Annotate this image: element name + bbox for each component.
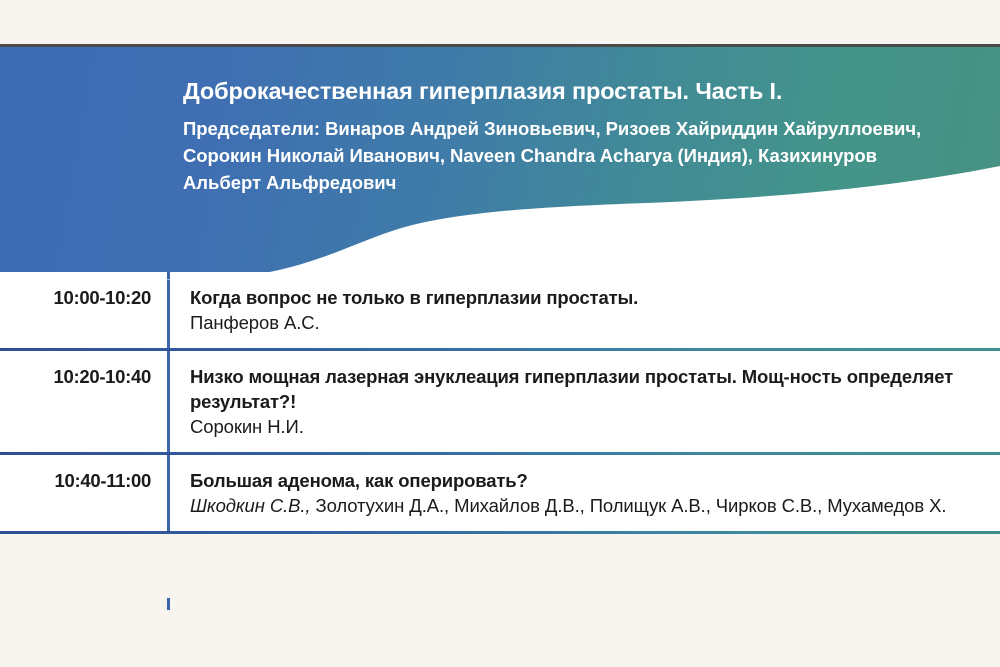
table-row: 10:00-10:20 Когда вопрос не только в гип… (0, 272, 1000, 348)
talk-authors: Шкодкин С.В., Золотухин Д.А., Михайлов Д… (190, 494, 978, 518)
talk-title: Когда вопрос не только в гиперплазии про… (190, 286, 978, 310)
talk-title: Низко мощная лазерная энуклеация гиперпл… (190, 365, 978, 413)
row-divider (0, 531, 1000, 534)
talk-cell: Низко мощная лазерная энуклеация гиперпл… (167, 351, 1000, 452)
top-margin-strip (0, 0, 1000, 44)
bottom-margin-strip (0, 598, 1000, 667)
talk-presenter: Шкодкин С.В., (190, 495, 310, 516)
talk-authors: Сорокин Н.И. (190, 415, 978, 439)
schedule-table: 10:00-10:20 Когда вопрос не только в гип… (0, 272, 1000, 534)
talk-time: 10:00-10:20 (0, 272, 167, 319)
talk-time: 10:40-11:00 (0, 455, 167, 502)
header-top-rule (0, 44, 1000, 47)
talk-coauthors: Сорокин Н.И. (190, 416, 304, 437)
talk-coauthors: Панферов А.С. (190, 312, 320, 333)
talk-authors: Панферов А.С. (190, 311, 978, 335)
session-header-band: Доброкачественная гиперплазия простаты. … (0, 44, 1000, 280)
talk-cell: Когда вопрос не только в гиперплазии про… (167, 272, 1000, 348)
talk-cell: Большая аденома, как оперировать? Шкодки… (167, 455, 1000, 531)
column-rule-stub (167, 598, 170, 610)
table-row: 10:40-11:00 Большая аденома, как опериро… (0, 455, 1000, 531)
session-venue: Пресс-центр (1 этаж) (183, 276, 372, 280)
program-slide: Доброкачественная гиперплазия простаты. … (0, 0, 1000, 667)
header-text-block: Доброкачественная гиперплазия простаты. … (183, 76, 973, 196)
talk-coauthors: Золотухин Д.А., Михайлов Д.В., Полищук А… (310, 495, 946, 516)
session-title: Доброкачественная гиперплазия простаты. … (183, 76, 973, 106)
session-chairs: Председатели: Винаров Андрей Зиновьевич,… (183, 115, 943, 196)
table-row: 10:20-10:40 Низко мощная лазерная энукле… (0, 351, 1000, 452)
talk-time: 10:20-10:40 (0, 351, 167, 398)
talk-title: Большая аденома, как оперировать? (190, 469, 978, 493)
